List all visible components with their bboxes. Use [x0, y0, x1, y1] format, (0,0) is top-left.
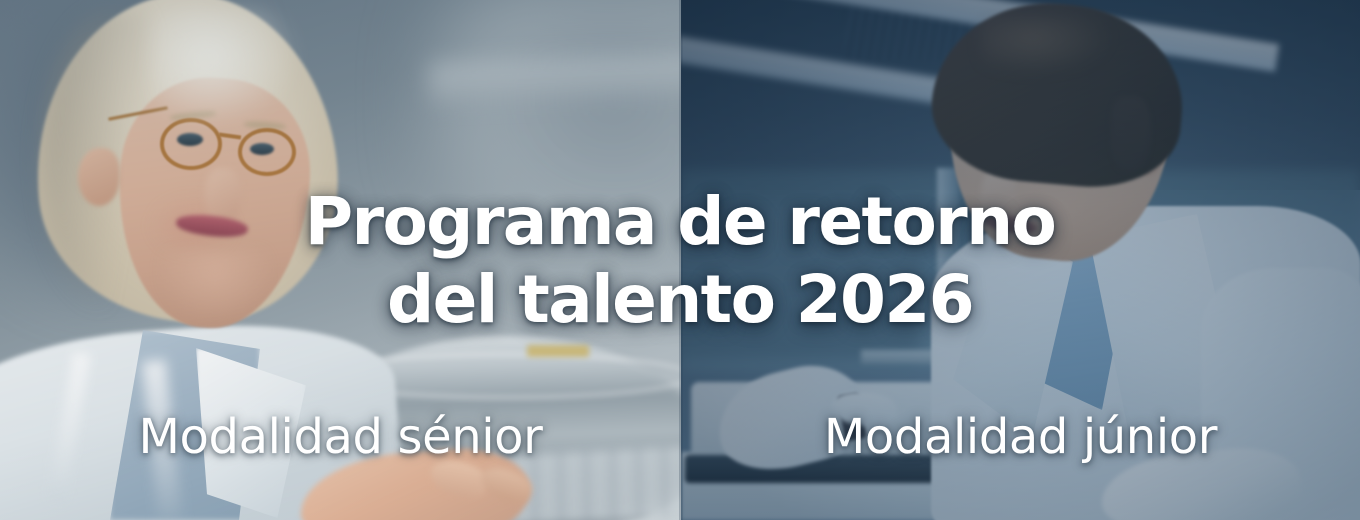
text-overlay: Programa de retorno del talento 2026 Mod… [0, 0, 1360, 520]
banner-hero: Programa de retorno del talento 2026 Mod… [0, 0, 1360, 520]
panel-senior-subtitle: Modalidad sénior [0, 408, 681, 466]
panel-junior-subtitle: Modalidad júnior [681, 408, 1360, 466]
banner-title: Programa de retorno del talento 2026 [0, 183, 1360, 339]
